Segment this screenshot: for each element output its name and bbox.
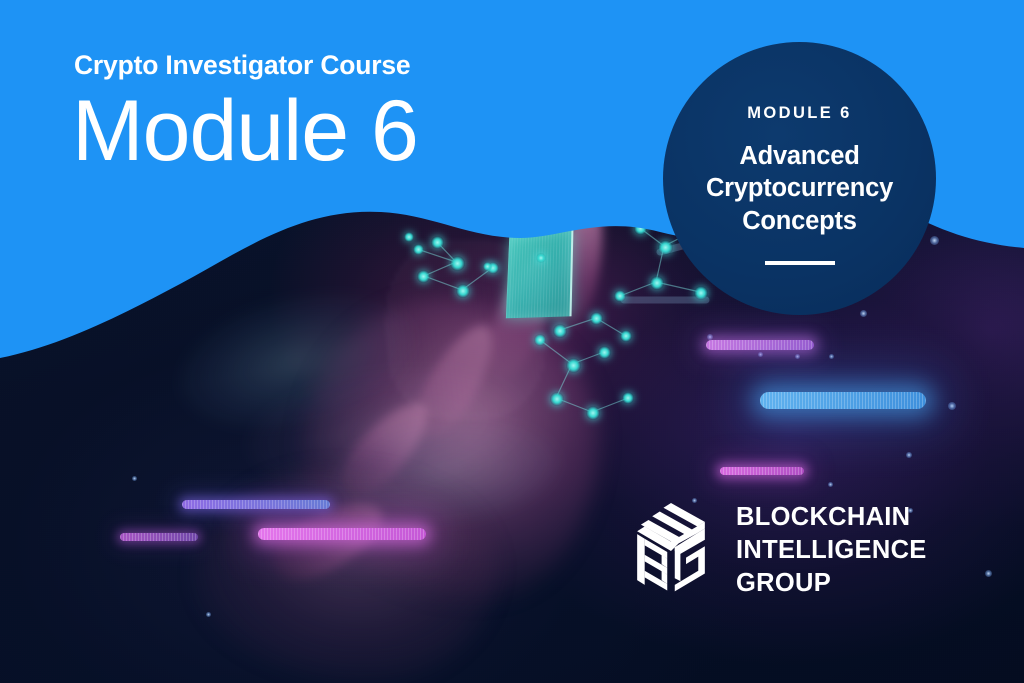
headline-block: Crypto Investigator Course Module 6 [72,52,632,177]
logo-line-1: BLOCKCHAIN [736,501,927,534]
particle-dot [132,476,137,481]
badge-module-label: MODULE 6 [747,104,851,123]
particle-dot [948,402,956,410]
logo-line-3: GROUP [736,567,927,600]
course-module-banner: Crypto Investigator Course Module 6 MODU… [0,0,1024,683]
particle-dot [206,612,211,617]
particle-dot [906,452,912,458]
logo-line-2: INTELLIGENCE [736,534,927,567]
badge-title-line-2: Cryptocurrency [706,172,893,204]
course-kicker: Crypto Investigator Course [74,52,632,79]
data-bar-magenta-lower [120,533,198,541]
module-badge: MODULE 6 Advanced Cryptocurrency Concept… [663,42,936,315]
brand-logo-text: BLOCKCHAIN INTELLIGENCE GROUP [736,501,927,600]
particle-dot [828,482,833,487]
big-isometric-cube-icon [624,502,718,600]
badge-title: Advanced Cryptocurrency Concepts [706,140,893,237]
badge-divider [765,261,835,265]
data-bar-magenta-right [720,467,804,475]
data-bar-purple-left [182,500,330,509]
network-node [586,406,600,420]
badge-title-line-1: Advanced [706,140,893,172]
data-bar-magenta-mid [258,528,426,540]
particle-dot [985,570,992,577]
page-title: Module 6 [72,85,632,178]
brand-logo: BLOCKCHAIN INTELLIGENCE GROUP [624,501,927,600]
badge-title-line-3: Concepts [706,205,893,237]
